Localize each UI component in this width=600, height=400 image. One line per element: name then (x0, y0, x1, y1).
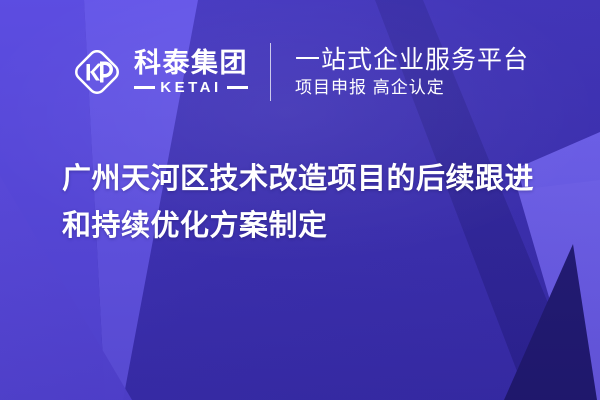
brand-logo: 科泰集团 KETAI (71, 46, 270, 98)
banner-headline: 广州天河区技术改造项目的后续跟进和持续优化方案制定 (62, 156, 562, 250)
brand-name-cn: 科泰集团 (134, 50, 248, 77)
brand-wordmark: 科泰集团 KETAI (134, 50, 248, 95)
tagline-secondary: 项目申报 高企认定 (295, 79, 529, 96)
banner-header: 科泰集团 KETAI 一站式企业服务平台 项目申报 高企认定 (0, 34, 600, 110)
tagline-primary: 一站式企业服务平台 (295, 48, 529, 73)
wordmark-rule-left (134, 86, 155, 89)
brand-name-en: KETAI (160, 80, 221, 95)
brand-tagline: 一站式企业服务平台 项目申报 高企认定 (271, 48, 529, 96)
promo-banner: 科泰集团 KETAI 一站式企业服务平台 项目申报 高企认定 广州天河区技术改造… (0, 0, 600, 400)
wordmark-rule-right (227, 86, 248, 89)
ketai-diamond-monogram-icon (71, 46, 123, 98)
brand-name-en-row: KETAI (134, 80, 248, 95)
